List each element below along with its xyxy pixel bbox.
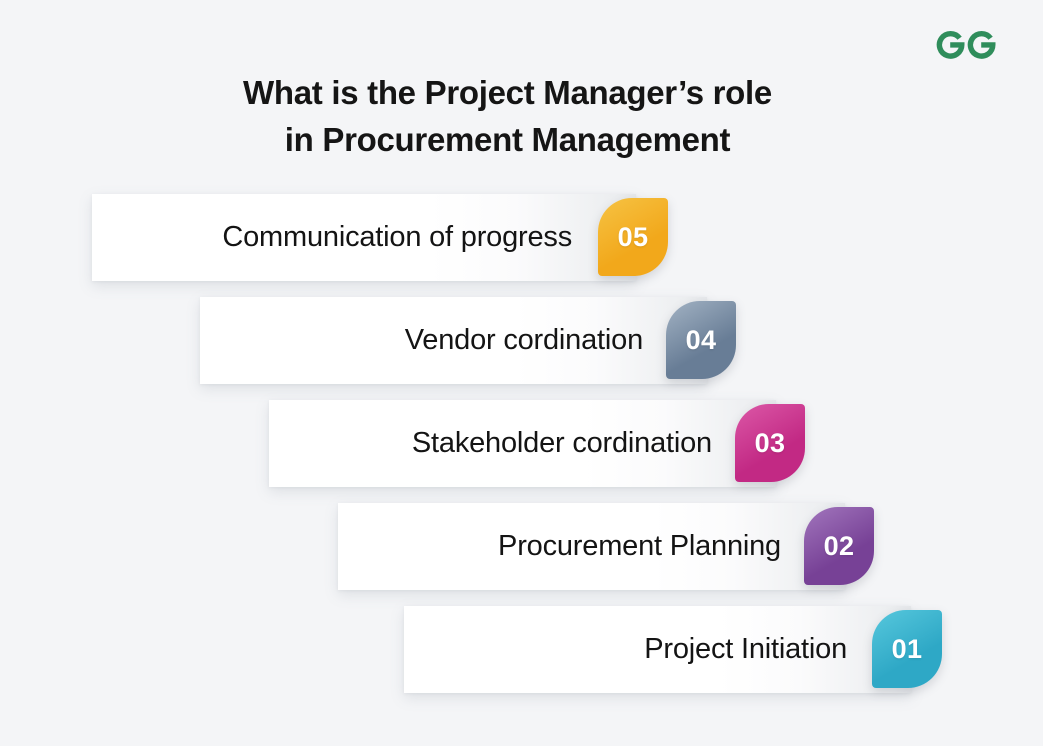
- logo-right-g: [970, 34, 992, 56]
- geeksforgeeks-logo: [935, 24, 1001, 60]
- step-bar[interactable]: Stakeholder cordination: [269, 400, 776, 487]
- step-number: 04: [686, 327, 717, 354]
- step-number-badge[interactable]: 03: [735, 404, 805, 482]
- step-row: Stakeholder cordination03: [0, 392, 1043, 495]
- step-label: Stakeholder cordination: [412, 400, 712, 487]
- step-number: 05: [618, 224, 649, 251]
- step-number: 02: [824, 533, 855, 560]
- step-number: 03: [755, 430, 786, 457]
- step-number-badge[interactable]: 01: [872, 610, 942, 688]
- step-bar[interactable]: Project Initiation: [404, 606, 911, 693]
- step-number-badge[interactable]: 02: [804, 507, 874, 585]
- step-row: Project Initiation01: [0, 598, 1043, 701]
- step-label: Project Initiation: [644, 606, 847, 693]
- page-title: What is the Project Manager’s role in Pr…: [0, 70, 1043, 164]
- step-bar[interactable]: Communication of progress: [92, 194, 636, 281]
- logo-left-g: [939, 34, 961, 56]
- step-row: Communication of progress05: [0, 186, 1043, 289]
- step-row: Procurement Planning02: [0, 495, 1043, 598]
- step-bar[interactable]: Vendor cordination: [200, 297, 707, 384]
- step-number-badge[interactable]: 04: [666, 301, 736, 379]
- step-number-badge[interactable]: 05: [598, 198, 668, 276]
- step-row: Vendor cordination04: [0, 289, 1043, 392]
- page-title-line-2: in Procurement Management: [0, 117, 1015, 164]
- steps-list: Communication of progress05Vendor cordin…: [0, 186, 1043, 701]
- step-label: Procurement Planning: [498, 503, 781, 590]
- step-number: 01: [892, 636, 923, 663]
- page-title-line-1: What is the Project Manager’s role: [0, 70, 1015, 117]
- logo-mark: [939, 34, 992, 56]
- step-label: Vendor cordination: [405, 297, 643, 384]
- step-bar[interactable]: Procurement Planning: [338, 503, 845, 590]
- step-label: Communication of progress: [222, 194, 572, 281]
